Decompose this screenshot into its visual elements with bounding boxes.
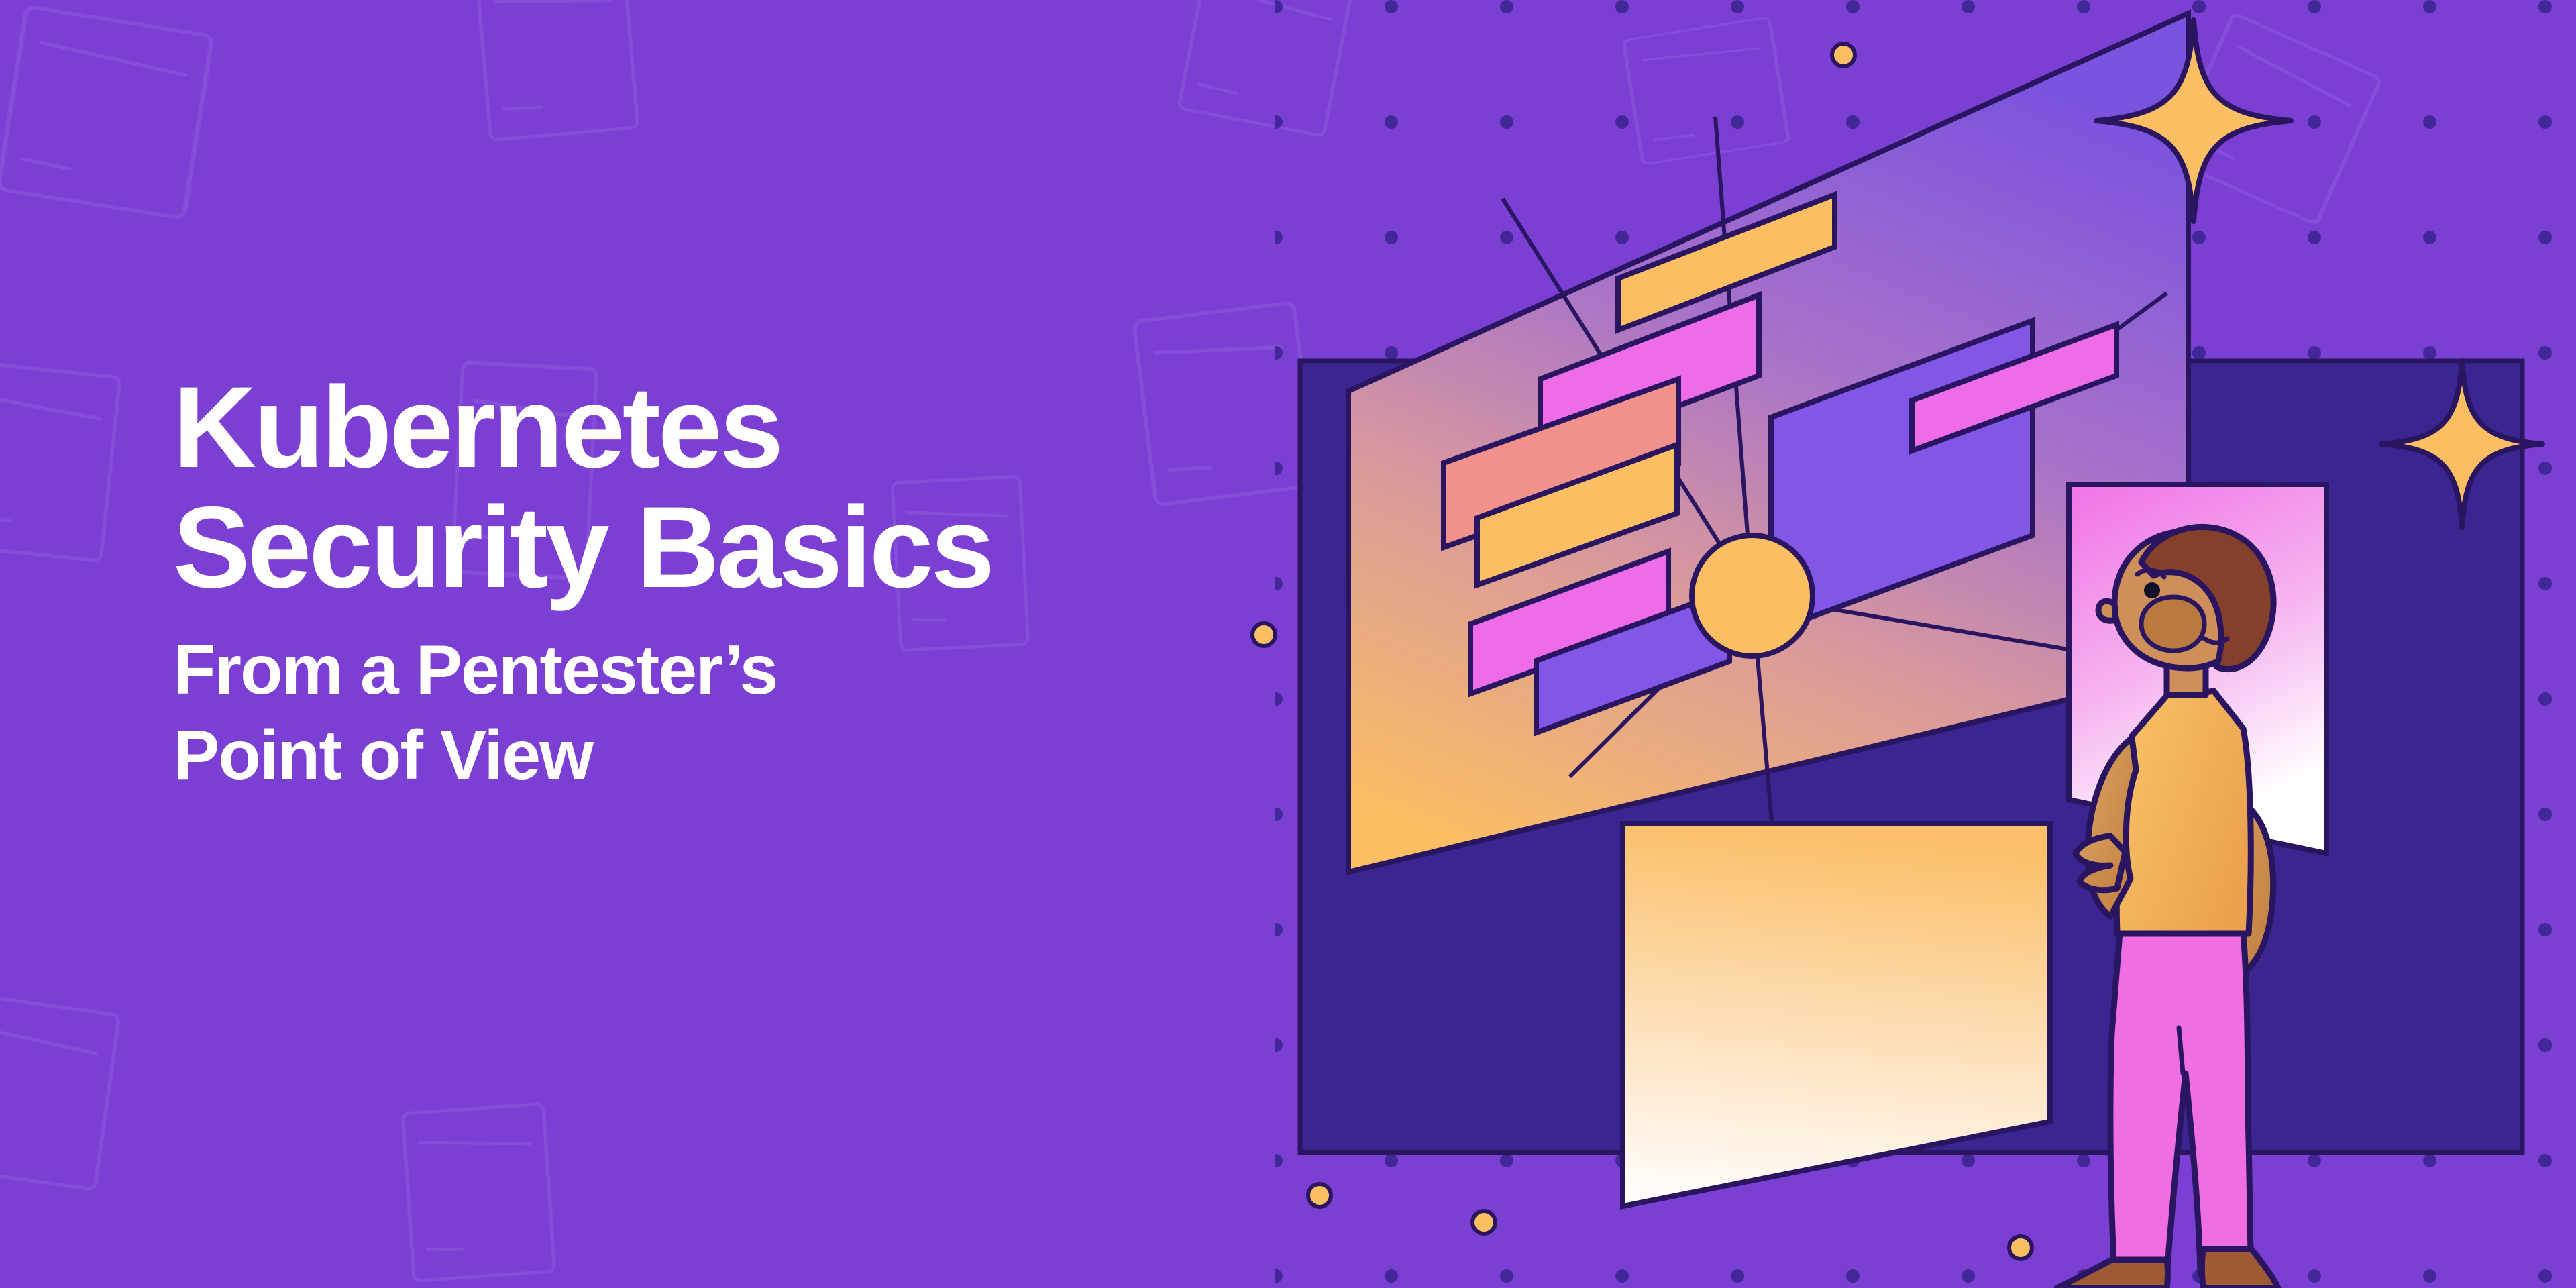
page-title: Kubernetes Security Basics — [173, 368, 1179, 608]
character-shirt — [2116, 691, 2251, 934]
banner-canvas: Kubernetes Security Basics From a Pentes… — [0, 0, 2576, 1288]
character-ear — [2098, 601, 2116, 621]
character-eye — [2144, 582, 2160, 598]
character-cheek — [2141, 597, 2204, 651]
banner-text: Kubernetes Security Basics From a Pentes… — [173, 368, 1179, 798]
node-circle — [1692, 535, 1813, 656]
character-hand — [2076, 836, 2125, 890]
page-subtitle: From a Pentester’s Point of View — [173, 628, 1179, 798]
